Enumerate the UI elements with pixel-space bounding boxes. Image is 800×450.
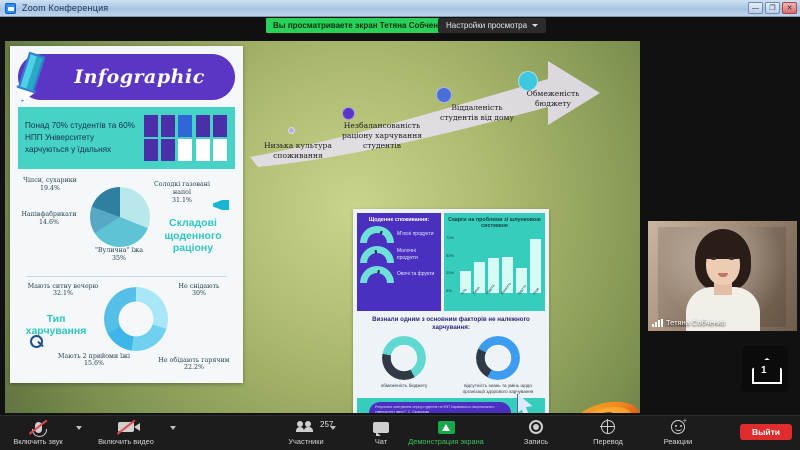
globe-icon bbox=[601, 419, 615, 435]
view-settings-button[interactable]: Настройки просмотра bbox=[438, 18, 546, 33]
pie-label-semifinished: Напівфабрикати14.6% bbox=[16, 211, 82, 227]
close-button[interactable]: ✕ bbox=[782, 2, 797, 14]
control-label: Включить звук bbox=[13, 437, 62, 446]
video-tile-speaker[interactable]: Тетяна Собченко bbox=[648, 221, 797, 331]
factor-cell-knowledge: відсутність знань та умінь щодо організа… bbox=[457, 336, 539, 395]
donut-chart-block: Мають ситну вечерю32.1% Не снідають30% М… bbox=[16, 279, 237, 378]
control-record[interactable]: Запись bbox=[500, 419, 572, 446]
zoom-app-icon bbox=[5, 3, 16, 14]
person-icon bbox=[196, 115, 210, 137]
audio-signal-icon bbox=[652, 319, 663, 327]
factors-donuts: обмеженість бюджету відсутність знань та… bbox=[357, 336, 545, 395]
daily-consumption-panel: Щоденне споживання: М'ясні продукти Моло… bbox=[357, 213, 441, 311]
timeline-node-3 bbox=[436, 87, 452, 103]
video-name-badge: Тетяна Собченко bbox=[652, 318, 725, 327]
meeting-top-strip: Вы просматриваете экран Тетяна Собченко … bbox=[0, 17, 800, 39]
control-label: Реакции bbox=[664, 437, 693, 446]
poster-top-row: Щоденне споживання: М'ясні продукти Моло… bbox=[357, 213, 545, 311]
microphone-muted-icon bbox=[35, 419, 42, 435]
control-label: Демонстрация экрана bbox=[408, 437, 484, 446]
home-overlay-button[interactable]: 1 bbox=[742, 346, 788, 392]
daily-consumption-title: Щоденне споживання: bbox=[360, 217, 438, 223]
factors-section: Визнали одним з основним факторів не нал… bbox=[357, 314, 545, 395]
window-controls: — ❐ ✕ bbox=[748, 2, 797, 14]
timeline-label-3: Віддаленість студентів від дому bbox=[434, 103, 520, 123]
avatar-eye-right bbox=[729, 257, 734, 260]
complaints-chart-title: Скарги на проблеми зі шлунковою системою bbox=[447, 217, 542, 230]
donut-label-twomeals: Мають 2 прийоми їжі15.6% bbox=[58, 353, 130, 369]
factor-donut-knowledge bbox=[476, 336, 520, 380]
poster-footer: Результати опитування серед студентів та… bbox=[357, 398, 545, 413]
video-options-chevron-icon[interactable] bbox=[170, 426, 176, 430]
control-translate[interactable]: Перевод bbox=[572, 419, 644, 446]
participants-side-panel: Тетяна Собченко bbox=[645, 78, 800, 450]
pencil-icon bbox=[5, 43, 62, 109]
avatar-eye-left bbox=[711, 257, 716, 260]
gauge-label: М'ясні продукти bbox=[397, 231, 434, 237]
leave-meeting-button[interactable]: Выйти bbox=[740, 424, 792, 440]
x-tick: Інше bbox=[532, 286, 550, 303]
control-mute-audio[interactable]: Включить звук bbox=[2, 419, 74, 446]
timeline-node-4 bbox=[518, 71, 538, 91]
infographic-card: Infographic Понад 70% студентів та 60% Н… bbox=[10, 46, 243, 383]
control-label: Участники bbox=[288, 437, 323, 446]
view-settings-label: Настройки просмотра bbox=[446, 21, 527, 30]
gauge-icon bbox=[360, 266, 394, 283]
bar-chart-y-axis: 70% 50% 20% 0% bbox=[446, 235, 460, 293]
camera-muted-icon bbox=[118, 419, 134, 435]
person-icon bbox=[144, 139, 158, 161]
arrow-timeline: Низька культура споживання Незбалансован… bbox=[248, 49, 628, 167]
infographic-title: Infographic bbox=[74, 66, 205, 88]
viewing-screen-banner: Вы просматриваете экран Тетяна Собченко bbox=[266, 18, 454, 33]
cursor-icon bbox=[517, 394, 539, 413]
person-icon bbox=[178, 139, 192, 161]
factor-caption-knowledge: відсутність знань та умінь щодо організа… bbox=[457, 383, 539, 395]
record-icon bbox=[529, 419, 543, 435]
pie-chart-block: Чіпси, сухарики19.4% Солодкі газовані на… bbox=[16, 175, 237, 274]
control-share-screen[interactable]: Демонстрация экрана bbox=[398, 419, 494, 446]
y-tick: 0% bbox=[446, 288, 460, 293]
pie-label-streetfood: "Вулична" їжа35% bbox=[78, 247, 160, 263]
bar bbox=[530, 239, 541, 293]
gauge-icon bbox=[360, 226, 394, 243]
pie-chart bbox=[90, 187, 150, 247]
control-label: Чат bbox=[375, 437, 387, 446]
chevron-down-icon bbox=[532, 24, 538, 27]
gauge-row: Молочні продукти bbox=[360, 246, 438, 263]
infographic-header: Infographic bbox=[18, 54, 235, 100]
factor-donut-budget bbox=[382, 336, 426, 380]
bar-chart-bars bbox=[460, 235, 541, 293]
y-tick: 20% bbox=[446, 270, 460, 275]
person-icon bbox=[213, 115, 227, 137]
control-participants[interactable]: 257 Участники bbox=[270, 419, 342, 446]
reactions-icon: + bbox=[671, 419, 685, 435]
person-icon bbox=[213, 139, 227, 161]
gauge-row: Овочі та фрукти bbox=[360, 266, 438, 283]
donut-label-nobreakfast: Не снідають30% bbox=[168, 283, 230, 299]
meeting-controls-bar: Включить звук Включить видео 257 Участни… bbox=[0, 415, 800, 450]
control-label: Перевод bbox=[593, 437, 623, 446]
timeline-node-2 bbox=[342, 107, 355, 120]
magnifier-icon bbox=[30, 335, 45, 350]
zoom-meeting-window: Zoom Конференция — ❐ ✕ Вы просматриваете… bbox=[0, 0, 800, 450]
control-reactions[interactable]: + Реакции bbox=[642, 419, 714, 446]
minimize-button[interactable]: — bbox=[748, 2, 763, 14]
donut-label-nohotlunch: Не обідають гарячим22.2% bbox=[154, 357, 234, 373]
participants-icon: 257 bbox=[296, 419, 316, 435]
pie-label-chips: Чіпси, сухарики19.4% bbox=[18, 177, 82, 193]
person-icon bbox=[161, 139, 175, 161]
megaphone-icon bbox=[213, 197, 231, 213]
donut-chart bbox=[104, 287, 168, 351]
window-title: Zoom Конференция bbox=[22, 3, 108, 13]
person-icon bbox=[144, 115, 158, 137]
stat-band-text: Понад 70% студентів та 60% НПП Університ… bbox=[25, 120, 138, 156]
control-start-video[interactable]: Включить видео bbox=[90, 419, 162, 446]
gauge-row: М'ясні продукти bbox=[360, 226, 438, 243]
person-icon bbox=[196, 139, 210, 161]
timeline-node-1 bbox=[288, 127, 295, 134]
complaints-bar-chart-panel: Скарги на проблеми зі шлунковою системою… bbox=[444, 213, 545, 311]
window-title-bar: Zoom Конференция — ❐ ✕ bbox=[0, 0, 800, 17]
pie-caption: Складові щоденного раціону bbox=[156, 217, 230, 255]
shared-screen-stage: Infographic Понад 70% студентів та 60% Н… bbox=[0, 39, 800, 415]
timeline-label-2: Незбалансованість раціону харчування сту… bbox=[332, 121, 432, 151]
nutrition-poster: Щоденне споживання: М'ясні продукти Моло… bbox=[353, 209, 549, 413]
person-icon bbox=[161, 115, 175, 137]
poster-footer-note: Результати опитування серед студентів та… bbox=[369, 402, 511, 413]
chat-icon bbox=[373, 419, 389, 435]
share-screen-icon bbox=[438, 419, 455, 435]
control-label: Включить видео bbox=[98, 437, 154, 446]
papaya-image bbox=[571, 399, 640, 413]
gauge-label: Овочі та фрукти bbox=[397, 271, 434, 277]
factor-cell-budget: обмеженість бюджету bbox=[363, 336, 445, 389]
people-icon-group bbox=[144, 115, 228, 161]
card-divider bbox=[26, 276, 227, 277]
stat-band: Понад 70% студентів та 60% НПП Університ… bbox=[18, 107, 235, 169]
restore-button[interactable]: ❐ bbox=[765, 2, 780, 14]
donut-label-supper: Мають ситну вечерю32.1% bbox=[22, 283, 104, 299]
gauge-label: Молочні продукти bbox=[397, 248, 438, 261]
home-icon: 1 bbox=[752, 358, 778, 380]
gauge-icon bbox=[360, 246, 394, 263]
control-label: Запись bbox=[524, 437, 548, 446]
factors-title: Визнали одним з основним факторів не нал… bbox=[357, 316, 545, 333]
home-badge: 1 bbox=[761, 365, 767, 376]
y-tick: 70% bbox=[446, 235, 460, 240]
participant-name: Тетяна Собченко bbox=[666, 318, 725, 327]
timeline-label-4: Обмеженість бюджету bbox=[520, 89, 586, 109]
factor-caption-budget: обмеженість бюджету bbox=[363, 383, 445, 389]
participants-chevron-icon[interactable] bbox=[330, 426, 336, 430]
person-icon bbox=[178, 115, 192, 137]
bar-chart-x-axis: БільПечіяНудотаВажкістьЗдуттяІнше bbox=[460, 293, 541, 309]
y-tick: 50% bbox=[446, 253, 460, 258]
pie-label-soda: Солодкі газовані напої31.1% bbox=[146, 181, 218, 205]
audio-options-chevron-icon[interactable] bbox=[76, 426, 82, 430]
presentation-slide: Infographic Понад 70% студентів та 60% Н… bbox=[5, 41, 640, 413]
avatar-hair-front bbox=[700, 233, 746, 259]
